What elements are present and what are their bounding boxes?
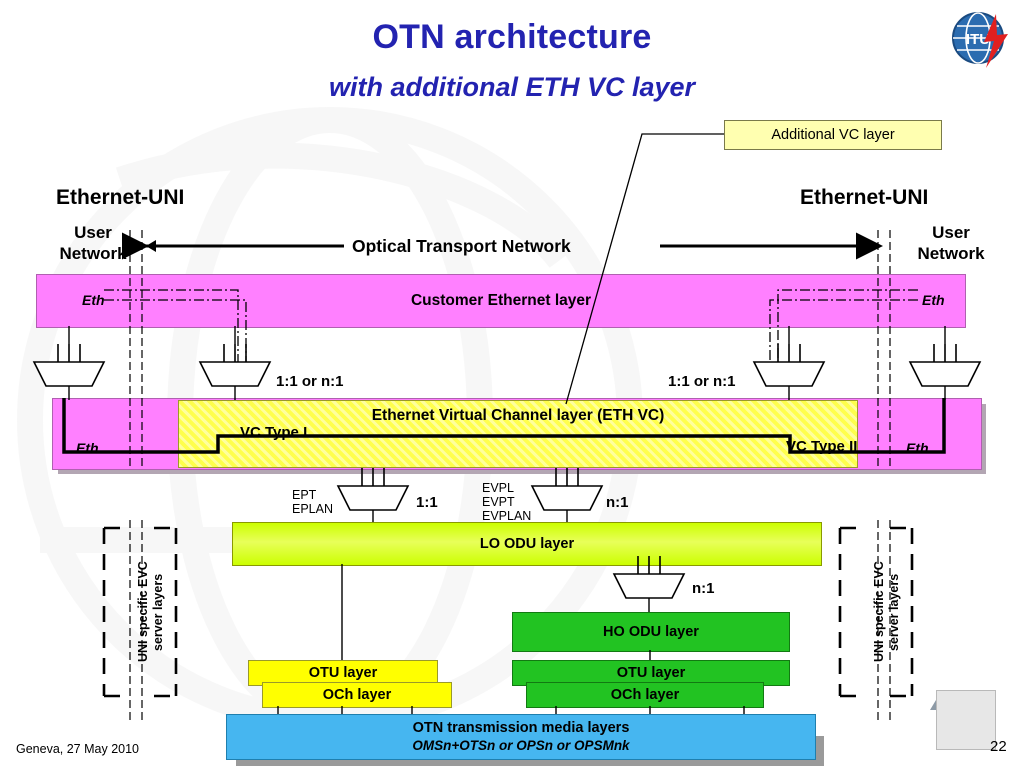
otn-media-layer-band: OTN transmission media layers OMSn+OTSn … [226, 714, 816, 760]
vc-type-ii-label: VC Type II [786, 438, 857, 455]
customer-ethernet-layer-band: Customer Ethernet layer [36, 274, 966, 328]
och-layer-left-band: OCh layer [262, 682, 452, 708]
otn-media-line2: OMSn+OTSn or OPSn or OPSMnk [412, 737, 629, 754]
ratio-mid-left: 1:1 [416, 494, 438, 511]
user-network-left-label: User Network [38, 222, 148, 264]
och-layer-right-band: OCh layer [526, 682, 764, 708]
ratio-top-right: 1:1 or n:1 [668, 373, 736, 390]
ho-odu-layer-band: HO ODU layer [512, 612, 790, 652]
eth-vc-layer-label: Ethernet Virtual Channel layer (ETH VC) [179, 407, 857, 425]
user-right-text: User [896, 222, 1006, 243]
eth-label-left-top: Eth [82, 292, 105, 308]
evpl-evpt-evplan-label: EVPLEVPTEVPLAN [482, 481, 531, 523]
page-title: OTN architecture [0, 18, 1024, 57]
och-layer-right-label: OCh layer [527, 683, 763, 707]
vc-type-i-label: VC Type I [240, 424, 307, 441]
otn-media-line1: OTN transmission media layers [413, 720, 630, 737]
eth-label-left-bottom: Eth [76, 440, 99, 456]
lo-odu-layer-label: LO ODU layer [233, 523, 821, 565]
back-button[interactable] [936, 690, 996, 750]
ratio-top-left: 1:1 or n:1 [276, 373, 344, 390]
footer-left-text: Geneva, 27 May 2010 [16, 742, 139, 756]
uni-evc-right-label: UNI specific EVCserver layers [872, 528, 902, 696]
och-layer-left-label: OCh layer [263, 683, 451, 707]
ethernet-uni-left-label: Ethernet-UNI [56, 186, 184, 210]
network-right-text: Network [896, 243, 1006, 264]
customer-ethernet-layer-label: Customer Ethernet layer [37, 275, 965, 327]
user-network-right-label: User Network [896, 222, 1006, 264]
ethernet-uni-right-label: Ethernet-UNI [800, 186, 928, 210]
optical-transport-network-label: Optical Transport Network [352, 236, 571, 257]
otn-media-layer-label: OTN transmission media layers OMSn+OTSn … [227, 715, 815, 759]
uni-evc-left-label: UNI specific EVCserver layers [136, 528, 166, 696]
lo-odu-layer-band: LO ODU layer [232, 522, 822, 566]
page-subtitle: with additional ETH VC layer [0, 72, 1024, 103]
page-number: 22 [990, 738, 1007, 755]
ratio-lo-to-ho: n:1 [692, 580, 715, 597]
eth-label-right-top: Eth [922, 292, 945, 308]
ho-odu-layer-label: HO ODU layer [513, 613, 789, 651]
additional-vc-layer-callout: Additional VC layer [724, 120, 942, 150]
ept-eplan-label: EPTEPLAN [292, 488, 333, 516]
network-left-text: Network [38, 243, 148, 264]
user-left-text: User [38, 222, 148, 243]
eth-label-right-bottom: Eth [906, 440, 929, 456]
ratio-mid-right: n:1 [606, 494, 629, 511]
